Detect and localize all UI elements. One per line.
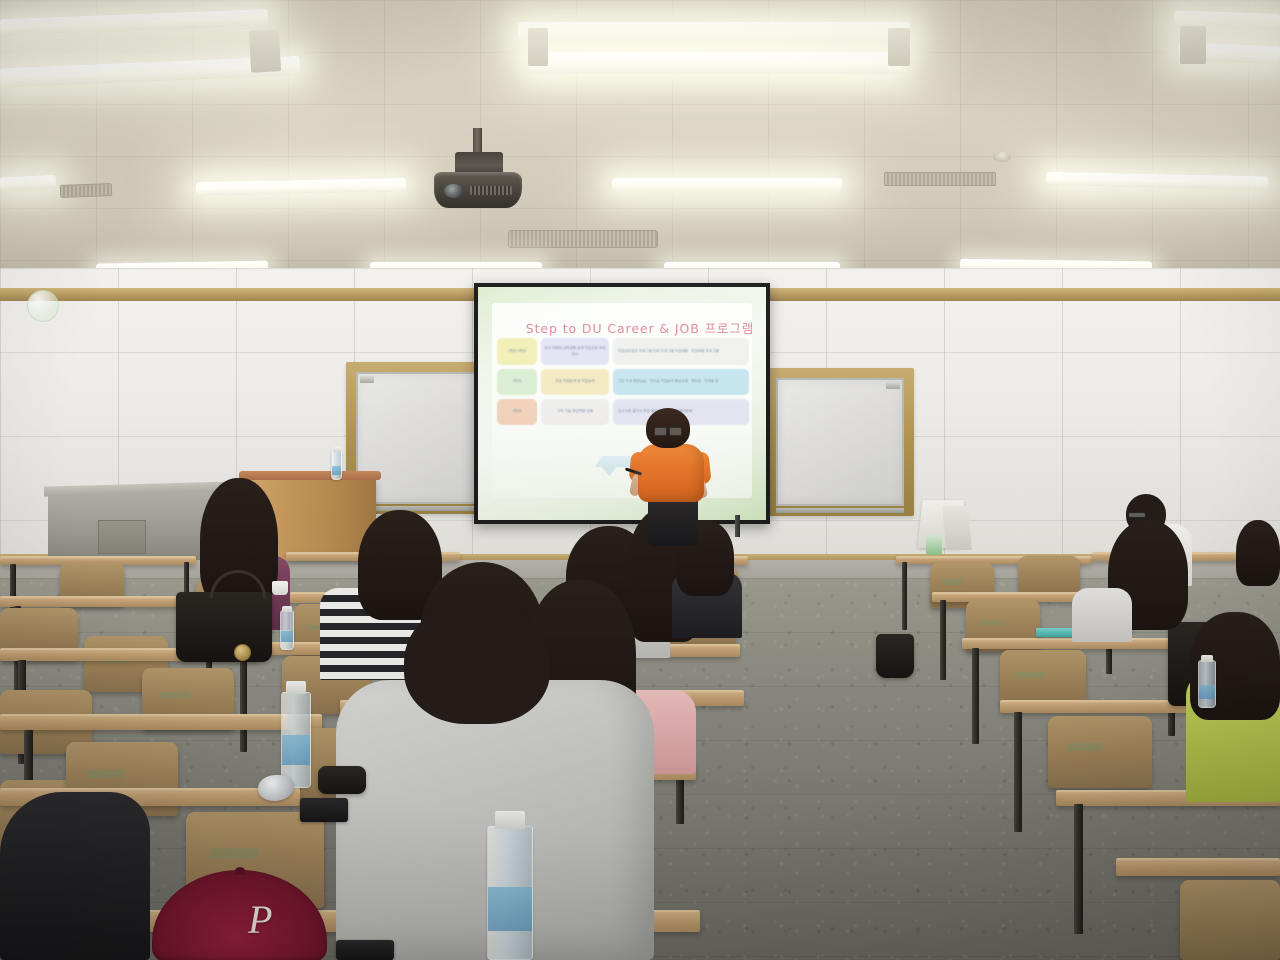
paper-cup: [272, 581, 288, 595]
water-bottle: [1198, 660, 1216, 708]
chair: [1018, 556, 1080, 596]
black-handbag: [176, 592, 272, 662]
projector-lens-icon: [444, 184, 464, 198]
slide-row-mid: 자기 이해와 대학생활 설계 직업진로 적성검사: [541, 338, 609, 365]
desk-leg: [1014, 712, 1022, 832]
light-housing: [1180, 26, 1206, 64]
desk-leg: [940, 600, 946, 680]
bottle-label: [281, 631, 293, 642]
av-console-panel: [98, 520, 146, 554]
bottle-label: [332, 466, 341, 475]
desk-leg: [1074, 804, 1083, 934]
bottle-cap: [333, 447, 341, 452]
chair-sticker: [211, 848, 258, 859]
smoke-detector-icon: [993, 152, 1011, 162]
slide-row: 3학년 전공 직업탐색 및 직업능력 기업 소개 현장실습 · 인턴십 직업능력…: [497, 369, 749, 395]
phone: [300, 798, 348, 822]
ceiling-light: [518, 22, 910, 42]
bag: [876, 634, 914, 678]
desk-leg: [902, 562, 907, 630]
chair-sticker: [979, 620, 1004, 626]
chair-sticker: [942, 579, 964, 584]
phone: [336, 940, 394, 960]
desk-leg: [972, 648, 979, 744]
chair-sticker: [1015, 672, 1044, 678]
chair: [1180, 880, 1280, 960]
green-cup: [926, 535, 942, 555]
slide-title: Step to DU Career & JOB 프로그램: [0, 318, 1280, 337]
light-housing: [888, 28, 910, 66]
lecture-hall-photo: Step to DU Career & JOB 프로그램 1학년 2학년 자기 …: [0, 0, 1280, 960]
slide-row-mid: 전공 직업탐색 및 직업능력: [541, 369, 609, 395]
water-bottle: [331, 450, 342, 480]
whiteboard-right-surface: [776, 378, 904, 506]
bottle-cap: [286, 681, 306, 694]
desk-leg: [240, 654, 247, 752]
glasses-icon: [654, 426, 682, 433]
handbag-charm: [234, 644, 251, 661]
cap-button: [235, 867, 245, 875]
water-bottle: [281, 692, 311, 788]
air-vent: [884, 172, 996, 186]
water-bottle: [280, 610, 294, 650]
whiteboard-tray: [776, 508, 904, 513]
desk: [0, 714, 322, 730]
whiteboard-clip: [886, 382, 900, 389]
slide-content-rows: 1학년 2학년 자기 이해와 대학생활 설계 직업진로 적성검사 직업심리검사 …: [497, 338, 749, 429]
bottle-label: [1199, 685, 1215, 699]
slide-row-label: 1학년 2학년: [497, 338, 537, 365]
ceiling-light: [530, 52, 902, 74]
bottle-cap: [1201, 655, 1213, 662]
desk: [1116, 858, 1280, 876]
water-bottle: [487, 826, 533, 960]
presenter-skirt: [648, 498, 698, 546]
cap-logo-letter: P: [248, 900, 272, 940]
chair-sticker: [86, 770, 124, 778]
bottle-label: [282, 735, 310, 765]
slide-row-wide: 직업심리검사 프로그램 진로 프로그램 직업체험 · 직장체험 프로그램: [613, 338, 749, 365]
chair-sticker: [159, 692, 190, 699]
whiteboard-right: [766, 368, 914, 516]
slide-row-wide: 기업 소개 현장실습 · 인턴십 직업능력 향상교육 · 멘토링 · 자격증 등: [613, 369, 749, 395]
document-holder-back: [942, 506, 972, 550]
chair: [1048, 716, 1152, 788]
bottle-label: [488, 887, 532, 931]
projector-vent: [470, 186, 512, 195]
chair-sticker: [1067, 743, 1102, 751]
bottle-cap: [282, 606, 292, 612]
screen-support-pole: [735, 515, 740, 537]
light-housing: [528, 28, 548, 66]
presenter-top: [638, 444, 704, 502]
slide-row: 4학년 구직 기술 취업역량 강화 입사서류 클리닉 면접 클리닉 취업캠프 채…: [497, 399, 749, 425]
bottle-cap: [495, 811, 525, 829]
pencil-case: [318, 766, 366, 794]
air-vent: [60, 183, 112, 198]
light-housing: [249, 29, 281, 73]
air-vent: [508, 230, 658, 248]
slide-row-mid: 구직 기술 취업역량 강화: [541, 399, 609, 425]
podium-top: [239, 471, 381, 480]
ceiling-light: [612, 178, 842, 191]
slide-row-label: 4학년: [497, 399, 537, 425]
slide-row: 1학년 2학년 자기 이해와 대학생활 설계 직업진로 적성검사 직업심리검사 …: [497, 338, 749, 365]
whiteboard-clip: [360, 376, 374, 383]
slide-row-label: 3학년: [497, 369, 537, 395]
